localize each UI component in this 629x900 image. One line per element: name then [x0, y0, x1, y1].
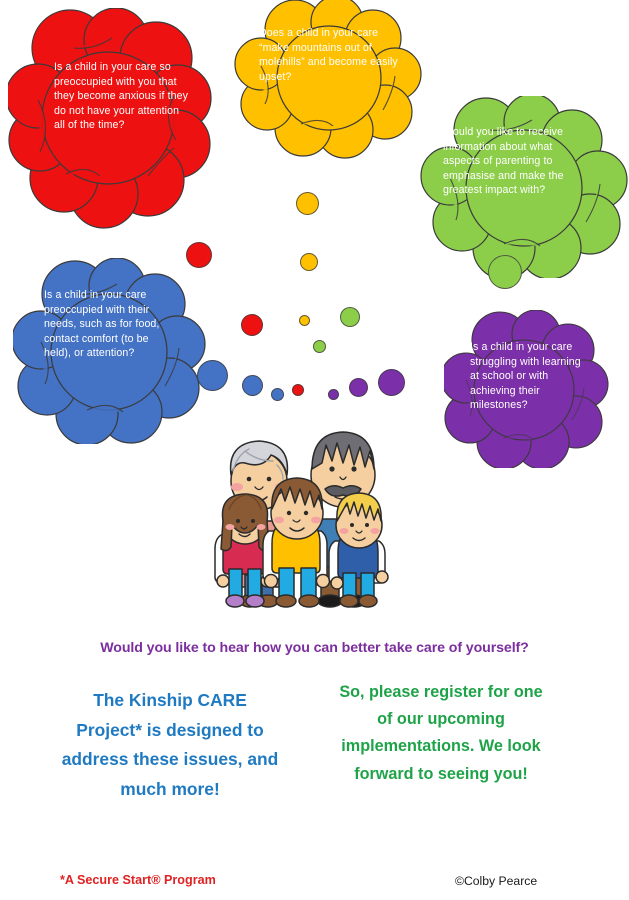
right-column-text: So, please register for one of our upcom… — [330, 679, 552, 788]
thought-cloud-red: Is a child in your care so preoccupied w… — [8, 8, 213, 230]
decorative-bubble — [328, 389, 339, 400]
decorative-bubble — [271, 388, 284, 401]
decorative-bubble — [242, 375, 263, 396]
left-column-text: The Kinship CARE Project* is designed to… — [58, 686, 282, 804]
copyright-credit: ©Colby Pearce — [455, 874, 537, 888]
cloud-green-text: Would you like to receive information ab… — [443, 125, 583, 198]
decorative-bubble — [292, 384, 304, 396]
thought-cloud-yellow: Does a child in your care “make mountain… — [233, 0, 423, 160]
decorative-bubble — [378, 369, 405, 396]
decorative-bubble — [313, 340, 326, 353]
thought-cloud-green: Would you like to receive information ab… — [418, 96, 629, 278]
cloud-blue-text: Is a child in your care preoccupied with… — [44, 288, 169, 361]
decorative-bubble — [340, 307, 360, 327]
poster-canvas: Is a child in your care so preoccupied w… — [0, 0, 629, 900]
thought-cloud-purple: Is a child in your care struggling with … — [444, 310, 609, 468]
decorative-bubble — [488, 255, 522, 289]
cloud-yellow-text: Does a child in your care “make mountain… — [259, 26, 399, 84]
thought-cloud-blue: Is a child in your care preoccupied with… — [13, 258, 206, 444]
decorative-bubble — [186, 242, 212, 268]
family-illustration — [207, 417, 407, 613]
footnote-secure-start: *A Secure Start® Program — [60, 873, 216, 887]
decorative-bubble — [299, 315, 310, 326]
decorative-bubble — [241, 314, 263, 336]
decorative-bubble — [197, 360, 228, 391]
tagline-text: Would you like to hear how you can bette… — [0, 640, 629, 656]
decorative-bubble — [300, 253, 318, 271]
decorative-bubble — [349, 378, 368, 397]
decorative-bubble — [296, 192, 319, 215]
cloud-purple-text: Is a child in your care struggling with … — [470, 340, 590, 413]
cloud-red-text: Is a child in your care so preoccupied w… — [54, 60, 189, 133]
family-clipart-svg — [207, 417, 407, 613]
